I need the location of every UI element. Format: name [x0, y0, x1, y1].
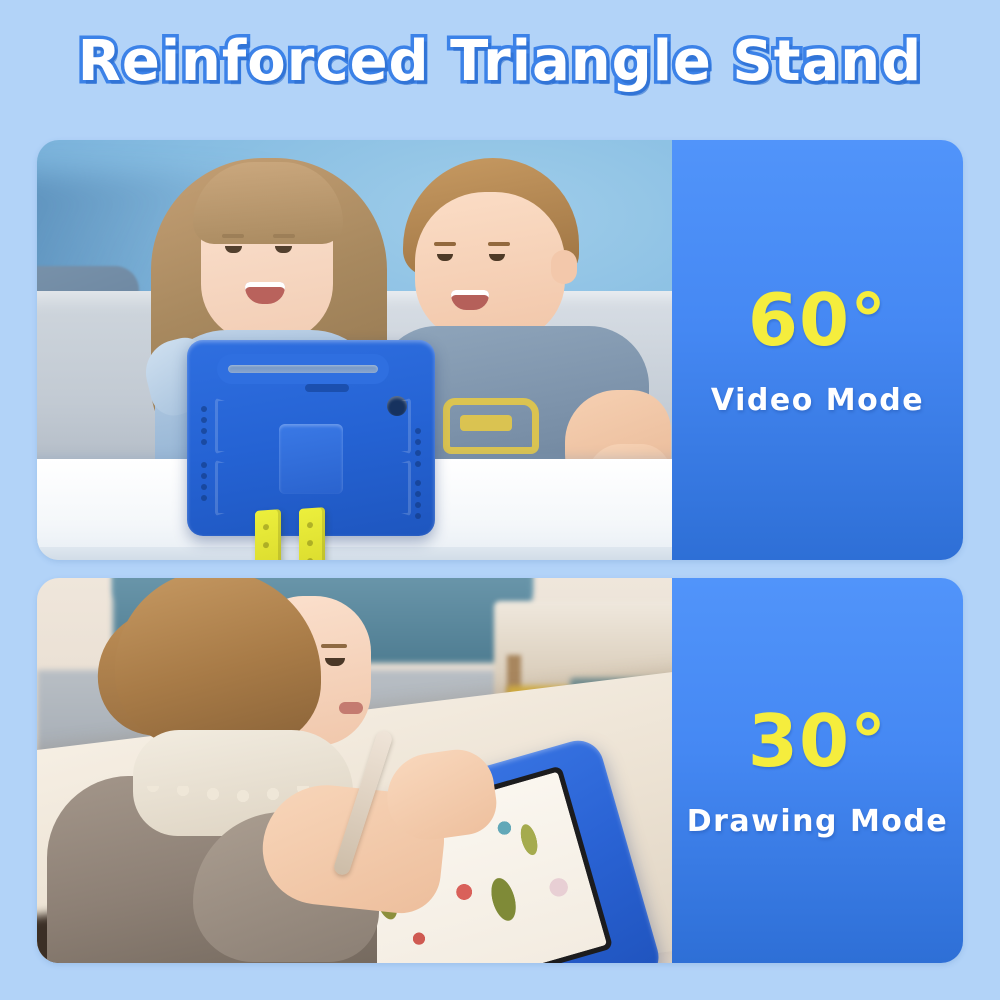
- mode-label-video: Video Mode: [711, 386, 924, 416]
- case-vents: [201, 406, 207, 450]
- girl-lips: [339, 702, 363, 714]
- feature-card-drawing: 30° Drawing Mode: [37, 578, 963, 963]
- case-vents: [415, 428, 421, 472]
- table-edge: [37, 547, 672, 560]
- boy-eyebrow: [434, 242, 456, 246]
- child-girl-drawing: [67, 578, 397, 962]
- girl-eyebrow: [222, 234, 244, 238]
- photo-drawing-mode: [37, 578, 672, 963]
- girl-eyebrow: [273, 234, 295, 238]
- page-title: Reinforced Triangle Stand: [0, 34, 1000, 90]
- yellow-kickstand-leg: [299, 507, 325, 560]
- photo-video-mode: [37, 140, 672, 560]
- angle-value-drawing: 30°: [748, 705, 887, 777]
- page-title-text: Reinforced Triangle Stand: [78, 34, 923, 90]
- tshirt-car-graphic: [443, 398, 539, 454]
- yellow-kickstand-leg: [255, 509, 281, 560]
- boy-eyebrow: [488, 242, 510, 246]
- case-vents: [201, 462, 207, 506]
- mode-label-drawing: Drawing Mode: [687, 807, 949, 837]
- boy-face: [415, 192, 565, 342]
- girl-eyebrow: [321, 644, 347, 648]
- boy-ear: [551, 250, 577, 284]
- product-feature-page: Reinforced Triangle Stand: [0, 0, 1000, 1000]
- girl-hair: [115, 578, 321, 746]
- tablet-case-blue: [187, 340, 435, 536]
- angle-value-video: 60°: [748, 284, 887, 356]
- feature-card-video: 60° Video Mode: [37, 140, 963, 560]
- panel-drawing-mode: 30° Drawing Mode: [672, 578, 963, 963]
- case-center-panel: [279, 424, 343, 494]
- case-handle: [217, 354, 389, 384]
- case-vents: [415, 480, 421, 524]
- case-port-cutout: [305, 384, 349, 392]
- panel-video-mode: 60° Video Mode: [672, 140, 963, 560]
